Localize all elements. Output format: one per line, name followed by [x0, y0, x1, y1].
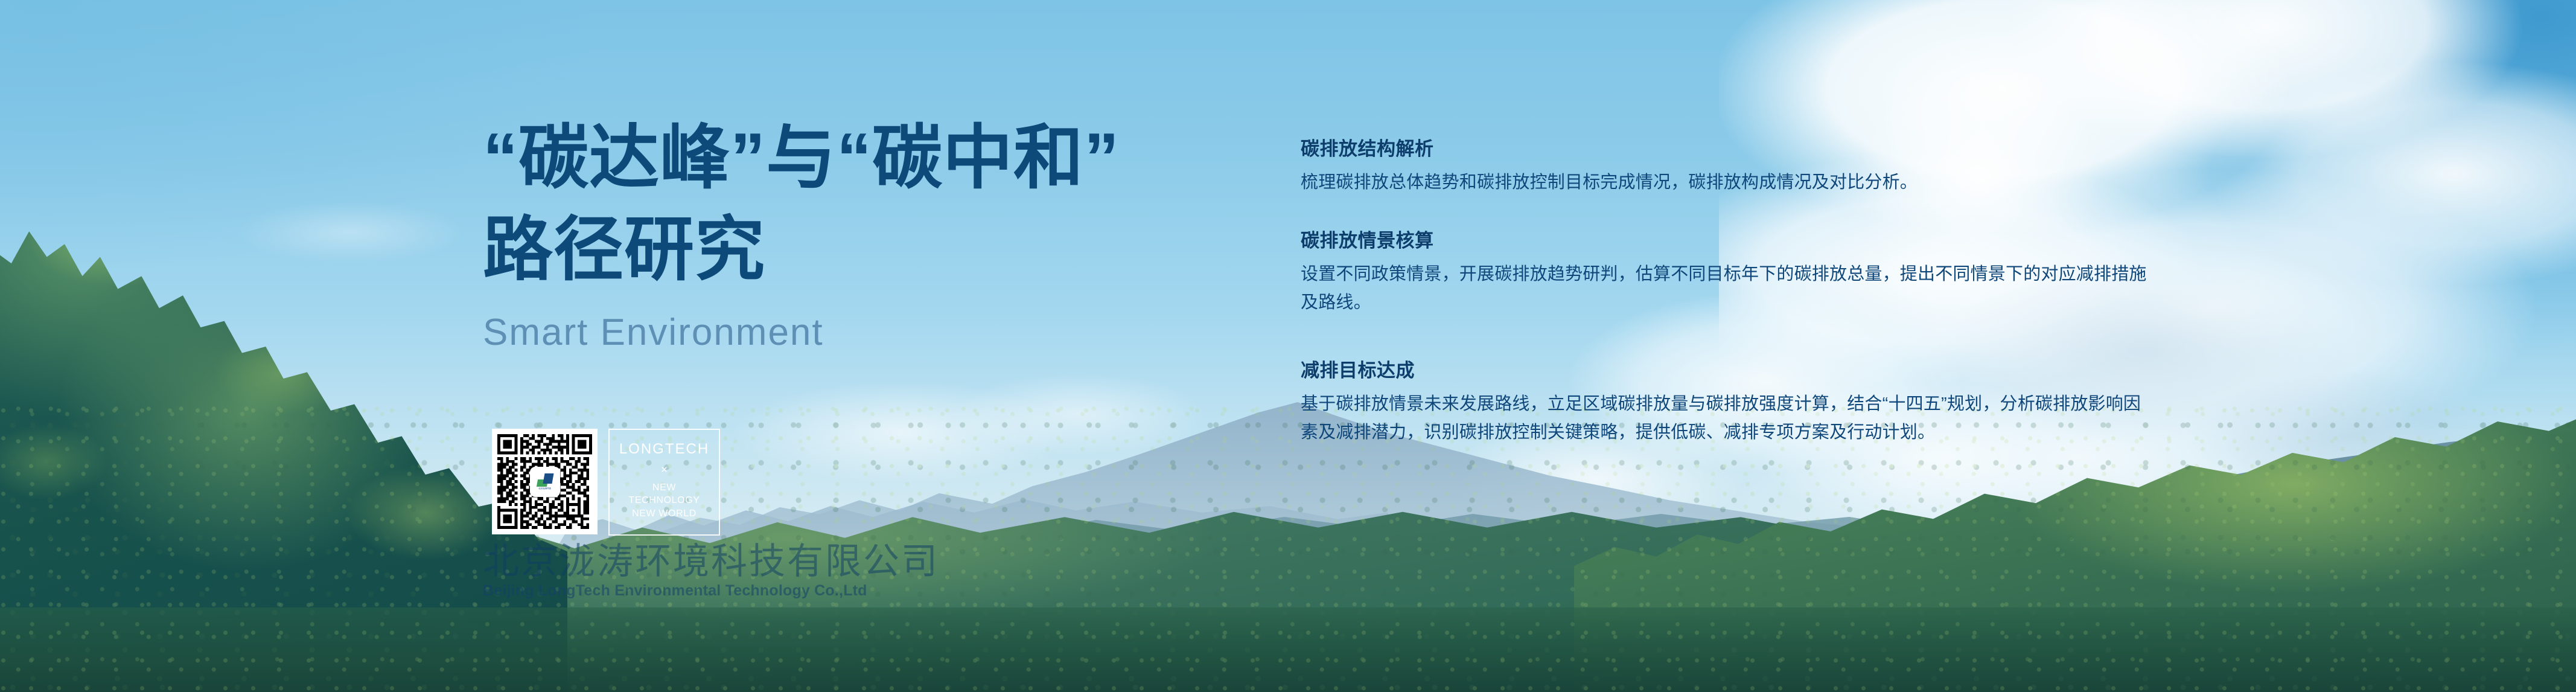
promo-cross-icon: × — [661, 464, 668, 476]
page-title-line-2: 路径研究 — [483, 207, 1207, 293]
longtech-logo-icon — [537, 473, 553, 487]
section-title: 碳排放结构解析 — [1301, 138, 2158, 160]
section-carbon-structure: 碳排放结构解析 梳理碳排放总体趋势和碳排放控制目标完成情况，碳排放构成情况及对比… — [1301, 138, 2158, 197]
promo-tagline: NEW TECHNOLOGY NEW WORLD — [628, 481, 700, 519]
section-scenario-accounting: 碳排放情景核算 设置不同政策情景，开展碳排放趋势研判，估算不同目标年下的碳排放总… — [1301, 229, 2158, 317]
section-body: 基于碳排放情景未来发展路线，立足区域碳排放量与碳排放强度计算，结合“十四五”规划… — [1301, 390, 2158, 447]
cloud-wisp-d — [193, 181, 507, 284]
headline-block: “碳达峰”与“碳中和” 路径研究 Smart Environment — [483, 115, 1207, 351]
feature-sections: 碳排放结构解析 梳理碳排放总体趋势和碳排放控制目标完成情况，碳排放构成情况及对比… — [1301, 138, 2158, 447]
promo-box: LONGTECH × NEW TECHNOLOGY NEW WORLD — [608, 429, 720, 536]
page-title-line-1: “碳达峰”与“碳中和” — [483, 115, 1207, 202]
section-body: 梳理碳排放总体趋势和碳排放控制目标完成情况，碳排放构成情况及对比分析。 — [1301, 168, 2158, 197]
qr-center-logo: 北京泷涛环境 — [531, 468, 559, 496]
section-title: 减排目标达成 — [1301, 359, 2158, 382]
foliage-texture — [0, 402, 2576, 692]
promo-tagline-line-3: NEW WORLD — [628, 507, 700, 520]
promo-tagline-line-2: TECHNOLOGY — [628, 494, 700, 507]
qr-code-card[interactable]: 北京泷涛环境 — [492, 429, 598, 534]
section-reduction-goal: 减排目标达成 基于碳排放情景未来发展路线，立足区域碳排放量与碳排放强度计算，结合… — [1301, 359, 2158, 447]
carbon-peak-banner: “碳达峰”与“碳中和” 路径研究 Smart Environment — [0, 0, 2576, 692]
qr-promo-area: 北京泷涛环境 LONGTECH × NEW TECHNOLOGY NEW WOR… — [492, 429, 720, 536]
section-title: 碳排放情景核算 — [1301, 229, 2158, 252]
promo-brand: LONGTECH — [619, 442, 709, 457]
section-body: 设置不同政策情景，开展碳排放趋势研判，估算不同目标年下的碳排放总量，提出不同情景… — [1301, 260, 2158, 317]
logo-blue-shape — [543, 473, 553, 484]
page-subtitle: Smart Environment — [483, 314, 1207, 351]
promo-tagline-line-1: NEW — [628, 481, 700, 494]
qr-logo-text-cn: 北京泷涛环境 — [538, 487, 551, 490]
